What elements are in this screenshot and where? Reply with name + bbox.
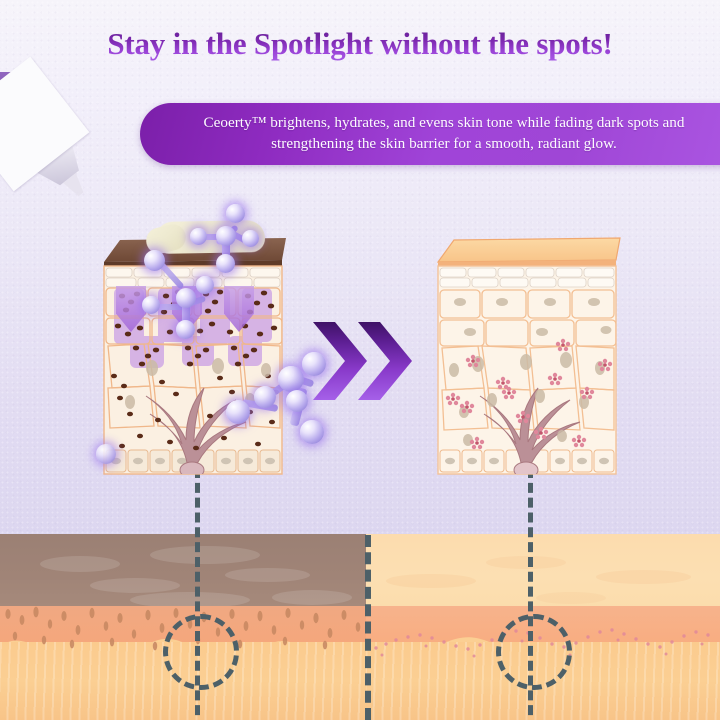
- molecule-atom: [286, 390, 308, 412]
- molecule-atom: [242, 230, 259, 247]
- page-title: Stay in the Spotlight without the spots!: [0, 26, 720, 62]
- molecule-atom: [226, 204, 245, 223]
- molecule-atom: [254, 386, 276, 408]
- skin-block-after-graphic: [434, 236, 624, 478]
- pigment-blotch: [272, 590, 352, 605]
- skin-tone-variation: [386, 574, 476, 588]
- benefit-banner-text: Ceoerty™ brightens, hydrates, and evens …: [144, 113, 720, 155]
- molecule-atom: [176, 288, 196, 308]
- pigment-blotch: [225, 568, 310, 582]
- skin-block-after: [434, 236, 624, 478]
- molecule-cluster: [136, 248, 222, 340]
- molecule-atom: [216, 226, 236, 246]
- benefit-banner: Ceoerty™ brightens, hydrates, and evens …: [140, 103, 720, 165]
- molecule-atom: [96, 444, 116, 464]
- callout-circle-after: [496, 614, 572, 690]
- callout-circle-before: [163, 614, 239, 690]
- molecule-atom: [300, 420, 324, 444]
- before-after-divider: [365, 535, 371, 720]
- pigment-blotch: [90, 578, 180, 593]
- molecule-atom: [190, 228, 207, 245]
- infographic-canvas: PIG ANTI- MEN- CREAM: [0, 0, 720, 720]
- molecule-atom: [196, 276, 214, 294]
- skin-tone-variation: [596, 570, 691, 584]
- pigment-blotch: [40, 556, 120, 572]
- molecule-atom-single: [96, 444, 122, 470]
- molecule-atom: [142, 296, 160, 314]
- molecule-atom: [278, 366, 304, 392]
- skin-tone-variation: [486, 556, 566, 569]
- product-bottle: PIG ANTI- MEN- CREAM: [0, 72, 174, 272]
- pigment-blotch: [150, 546, 260, 564]
- molecule-atom: [176, 320, 195, 339]
- molecule-atom: [144, 250, 165, 271]
- molecule-atom: [226, 400, 250, 424]
- molecule-cluster: [216, 336, 332, 452]
- skin-closeup-section: [0, 534, 720, 720]
- skin-tone-variation: [536, 592, 606, 604]
- molecule-atom: [302, 352, 326, 376]
